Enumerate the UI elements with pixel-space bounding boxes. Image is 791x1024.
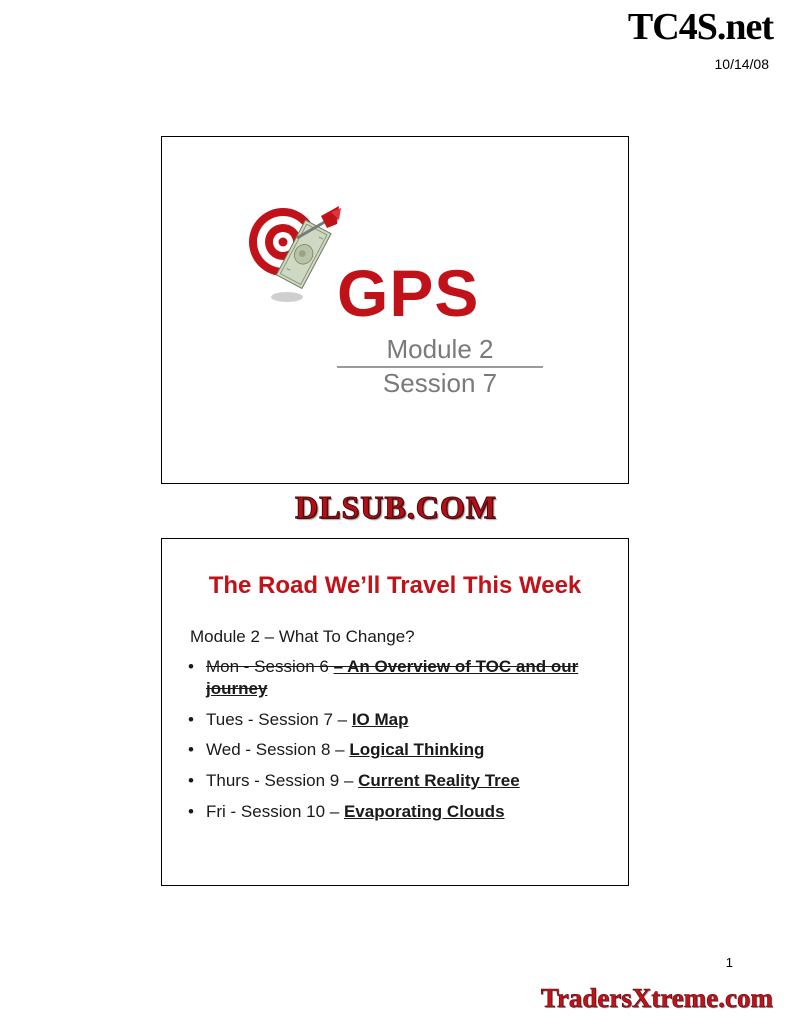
slide-2-bullet-list: Mon - Session 6 – An Overview of TOC and… <box>184 656 604 832</box>
list-item: Wed - Session 8 – Logical Thinking <box>184 739 604 761</box>
dlsub-watermark-text: DLSUB.COM <box>295 489 497 525</box>
list-item-bold-text: Logical Thinking <box>349 740 484 759</box>
list-item-bold-text: Evaporating Clouds <box>344 802 505 821</box>
target-with-dollar-bill-icon: 1 1 <box>235 198 343 306</box>
list-item-bold-text: IO Map <box>352 710 409 729</box>
list-item: Fri - Session 10 – Evaporating Clouds <box>184 801 604 823</box>
list-item-plain-text: Fri - Session 10 – <box>206 802 344 821</box>
list-item-plain-text: Mon - Session 6 <box>206 657 334 676</box>
gps-title: GPS <box>337 260 479 326</box>
page-number: 1 <box>726 955 733 970</box>
list-item-plain-text: Thurs - Session 9 – <box>206 771 358 790</box>
header-date: 10/14/08 <box>715 56 770 72</box>
slide-1: 1 1 GPS Module 2 Session 7 <box>161 136 629 484</box>
list-item: Mon - Session 6 – An Overview of TOC and… <box>184 656 604 700</box>
gps-module-label: Module 2 <box>337 334 543 368</box>
slide-2-subtitle: Module 2 – What To Change? <box>190 627 415 647</box>
slide-2: The Road We’ll Travel This Week Module 2… <box>161 538 629 886</box>
dlsub-watermark: DLSUB.COM <box>250 489 542 525</box>
list-item: Thurs - Session 9 – Current Reality Tree <box>184 770 604 792</box>
footer-brand: TradersXtreme.com <box>541 983 773 1014</box>
list-item-plain-text: Wed - Session 8 – <box>206 740 349 759</box>
gps-logo: 1 1 GPS Module 2 Session 7 <box>217 182 577 422</box>
list-item: Tues - Session 7 – IO Map <box>184 709 604 731</box>
gps-session-label: Session 7 <box>337 368 543 399</box>
list-item-bold-text: Current Reality Tree <box>358 771 520 790</box>
header-brand: TC4S.net <box>628 8 773 46</box>
slide-2-title: The Road We’ll Travel This Week <box>162 572 628 600</box>
list-item-plain-text: Tues - Session 7 – <box>206 710 352 729</box>
